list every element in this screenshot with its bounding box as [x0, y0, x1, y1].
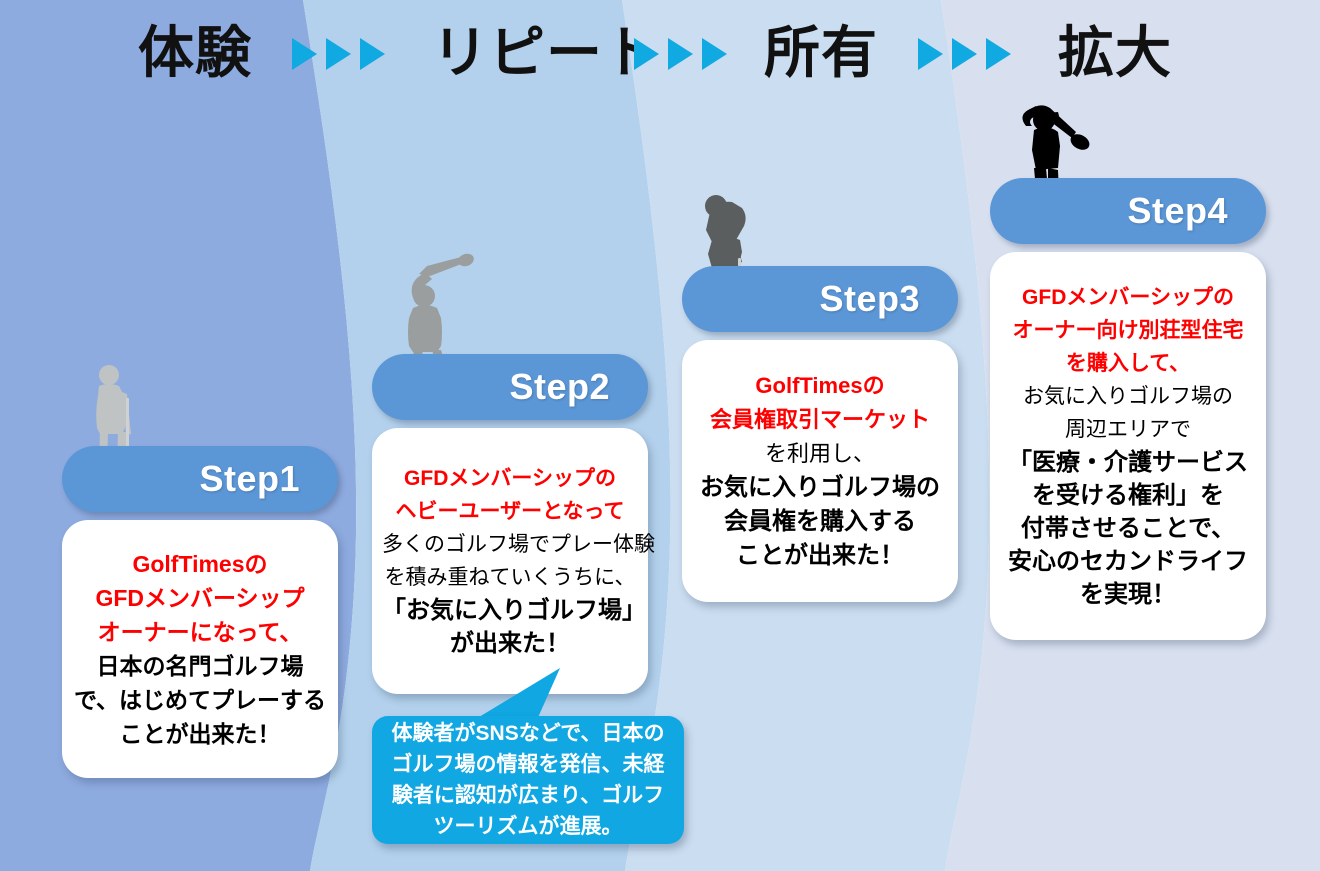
card-line: 会員権を購入する [692, 505, 948, 539]
header-label-3: 所有 [764, 18, 878, 88]
step-card-4: GFDメンバーシップの オーナー向け別荘型住宅 を購入して、 お気に入りゴルフ場… [990, 252, 1266, 640]
card-line: お気に入りゴルフ場の [692, 471, 948, 505]
card-line: 付帯させることで、 [1000, 512, 1256, 545]
triangle-right-icon [326, 38, 351, 70]
triangle-right-icon [918, 38, 943, 70]
step-pill-label-3: Step3 [819, 278, 920, 320]
card-line: GolfTimesの [692, 369, 948, 403]
card-line: ことが出来た！ [72, 717, 328, 751]
card-line: 多くのゴルフ場でプレー体験 [382, 528, 638, 561]
triangle-right-icon [634, 38, 659, 70]
callout-line: ゴルフ場の情報を発信、未経 [386, 749, 670, 780]
step-pill-label-4: Step4 [1127, 190, 1228, 232]
card-line: ヘビーユーザーとなって [382, 495, 638, 528]
step-pill-2[interactable]: Step2 [372, 354, 648, 420]
triangle-right-icon [292, 38, 317, 70]
header-arrows-2 [634, 38, 727, 70]
card-line: お気に入りゴルフ場の [1000, 380, 1256, 413]
callout-line: 験者に認知が広まり、ゴルフ [386, 780, 670, 811]
callout-line: 体験者がSNSなどで、日本の [386, 718, 670, 749]
card-line: 「医療・介護サービス [1000, 446, 1256, 479]
card-line: を実現！ [1000, 578, 1256, 611]
card-line: を受ける権利」を [1000, 479, 1256, 512]
card-line: 日本の名門ゴルフ場 [72, 649, 328, 683]
card-line: GFDメンバーシップの [1000, 281, 1256, 314]
card-line: 会員権取引マーケット [692, 403, 948, 437]
card-line: オーナーになって、 [72, 615, 328, 649]
card-line: 周辺エリアで [1000, 413, 1256, 446]
triangle-right-icon [986, 38, 1011, 70]
card-line: を積み重ねていくうちに、 [382, 561, 638, 594]
card-line: が出来た！ [382, 627, 638, 660]
triangle-right-icon [360, 38, 385, 70]
card-line: 「お気に入りゴルフ場」 [382, 594, 638, 627]
header-label-4: 拡大 [1058, 18, 1172, 88]
triangle-right-icon [668, 38, 693, 70]
card-line: で、はじめてプレーする [72, 683, 328, 717]
step-card-2: GFDメンバーシップの ヘビーユーザーとなって 多くのゴルフ場でプレー体験 を積… [372, 428, 648, 694]
triangle-right-icon [952, 38, 977, 70]
callout-line: ツーリズムが進展。 [386, 811, 670, 842]
triangle-right-icon [702, 38, 727, 70]
card-line: ことが出来た！ [692, 539, 948, 573]
step-pill-label-1: Step1 [199, 458, 300, 500]
card-line: GFDメンバーシップの [382, 462, 638, 495]
header-label-2: リピート [432, 18, 660, 88]
header-arrows-1 [292, 38, 385, 70]
header-label-1: 体験 [138, 18, 252, 88]
header-arrows-3 [918, 38, 1011, 70]
card-line: を利用し、 [692, 437, 948, 471]
step-pill-1[interactable]: Step1 [62, 446, 338, 512]
step-pill-3[interactable]: Step3 [682, 266, 958, 332]
card-line: を購入して、 [1000, 347, 1256, 380]
step-pill-label-2: Step2 [509, 366, 610, 408]
card-line: オーナー向け別荘型住宅 [1000, 314, 1256, 347]
card-line: 安心のセカンドライフ [1000, 545, 1256, 578]
infographic-canvas: 体験 リピート 所有 拡大 [0, 0, 1320, 871]
step-card-3: GolfTimesの 会員権取引マーケット を利用し、 お気に入りゴルフ場の 会… [682, 340, 958, 602]
header-flow: 体験 リピート 所有 拡大 [0, 0, 1320, 110]
card-line: GolfTimesの [72, 547, 328, 581]
step-pill-4[interactable]: Step4 [990, 178, 1266, 244]
card-line: GFDメンバーシップ [72, 581, 328, 615]
callout-bubble: 体験者がSNSなどで、日本の ゴルフ場の情報を発信、未経 験者に認知が広まり、ゴ… [372, 716, 684, 844]
step-card-1: GolfTimesの GFDメンバーシップ オーナーになって、 日本の名門ゴルフ… [62, 520, 338, 778]
